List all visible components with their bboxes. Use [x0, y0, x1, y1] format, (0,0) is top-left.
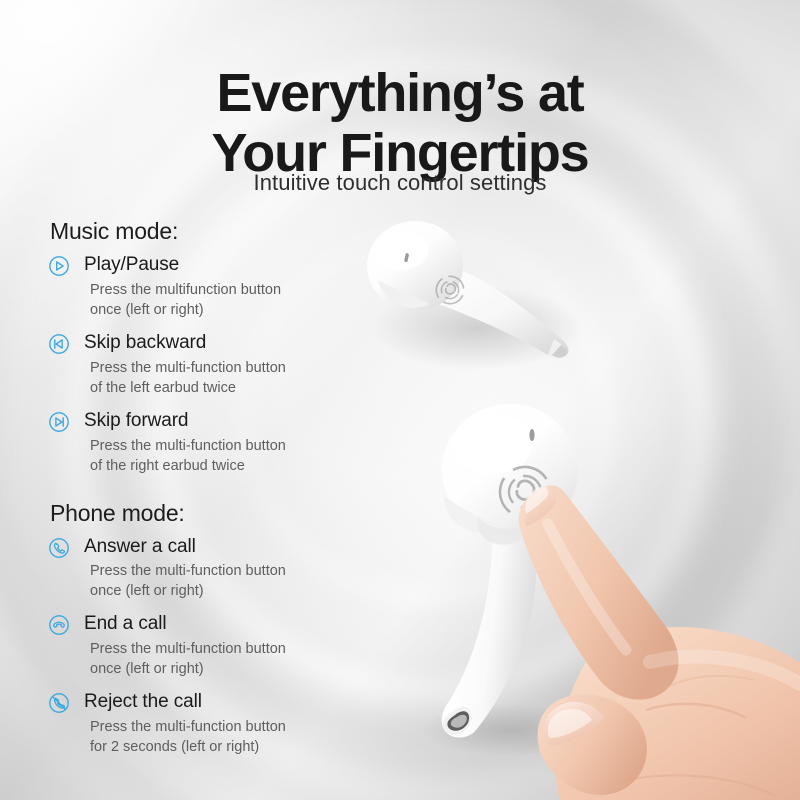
group-title-music: Music mode: — [50, 218, 368, 245]
feature-play-pause[interactable]: Play/Pause Press the multifunction butto… — [48, 254, 368, 320]
feature-description: Press the multi-function button once (le… — [90, 639, 368, 679]
headline-line-1: Everything’s at — [216, 63, 583, 123]
wireless-earbud-upper — [358, 208, 608, 388]
page-subtitle: Intuitive touch control settings — [0, 170, 800, 196]
skip-backward-icon — [48, 333, 70, 355]
feature-answer-call[interactable]: Answer a call Press the multi-function b… — [48, 536, 368, 602]
feature-title: Reject the call — [84, 691, 368, 713]
feature-description: Press the multi-function button for 2 se… — [90, 717, 368, 757]
feature-skip-backward[interactable]: Skip backward Press the multi-function b… — [48, 332, 368, 398]
feature-description: Press the multi-function button of the l… — [90, 358, 368, 398]
feature-title: End a call — [84, 613, 368, 635]
feature-title: Answer a call — [84, 536, 368, 558]
play-pause-icon — [48, 255, 70, 277]
feature-title: Play/Pause — [84, 254, 368, 276]
feature-end-call[interactable]: End a call Press the multi-function butt… — [48, 613, 368, 679]
feature-reject-call[interactable]: Reject the call Press the multi-function… — [48, 691, 368, 757]
feature-description: Press the multi-function button of the r… — [90, 436, 368, 476]
feature-skip-forward[interactable]: Skip forward Press the multi-function bu… — [48, 410, 368, 476]
group-title-phone: Phone mode: — [50, 500, 368, 527]
answer-call-icon — [48, 537, 70, 559]
poster-canvas: Everything’s at Your Fingertips Intuitiv… — [0, 0, 800, 800]
feature-title: Skip backward — [84, 332, 368, 354]
feature-list: Music mode: Play/Pause Press the multifu… — [48, 218, 368, 769]
feature-title: Skip forward — [84, 410, 368, 432]
page-title: Everything’s at Your Fingertips — [0, 64, 800, 183]
skip-forward-icon — [48, 411, 70, 433]
hand-pointing-index-finger — [470, 452, 800, 800]
feature-description: Press the multi-function button once (le… — [90, 561, 368, 601]
reject-call-icon — [48, 692, 70, 714]
end-call-icon — [48, 614, 70, 636]
feature-description: Press the multifunction button once (lef… — [90, 280, 368, 320]
